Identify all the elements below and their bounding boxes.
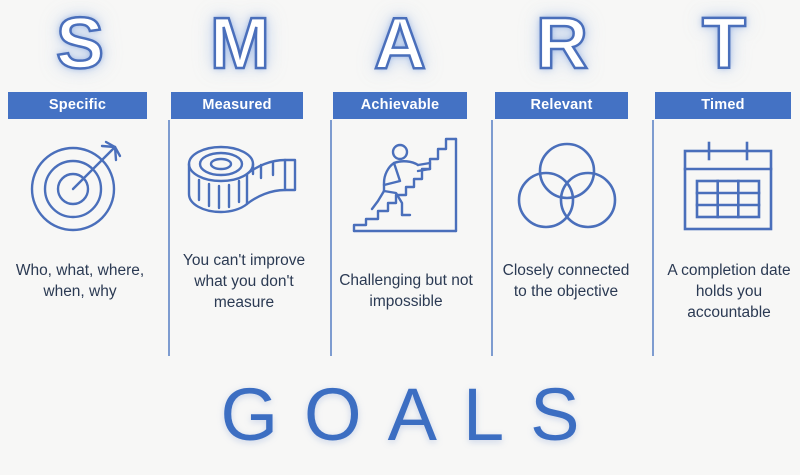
description-relevant: Closely connected to the objective (498, 260, 634, 302)
big-letter-t: T (644, 0, 800, 90)
big-letter-r: R (482, 0, 642, 90)
big-letter-m: M (160, 0, 320, 90)
description-achievable: Challenging but not impossible (336, 270, 476, 312)
smart-goals-infographic: S M A R T Specific Measured Achievable R… (0, 0, 800, 475)
goals-word: GOALS (0, 372, 800, 457)
banner-label-relevant: Relevant (495, 92, 628, 119)
calendar-icon (653, 131, 800, 241)
venn-diagram-icon (492, 131, 642, 241)
big-letter-s: S (0, 0, 160, 90)
tape-measure-icon (168, 131, 318, 241)
bottom-caption (0, 461, 800, 475)
big-letter-a: A (320, 0, 480, 90)
banner-label-measured: Measured (171, 92, 303, 119)
description-specific: Who, what, where, when, why (10, 260, 150, 302)
smart-letters-row: S M A R T (0, 0, 800, 90)
climber-mountain-icon (330, 131, 480, 241)
banner-label-specific: Specific (8, 92, 147, 119)
banner-label-timed: Timed (655, 92, 791, 119)
description-timed: A completion date holds you accountable (658, 260, 800, 323)
description-measured: You can't improve what you don't measure (178, 250, 310, 313)
banner-label-achievable: Achievable (333, 92, 467, 119)
target-bullseye-arrow-icon (5, 131, 155, 241)
